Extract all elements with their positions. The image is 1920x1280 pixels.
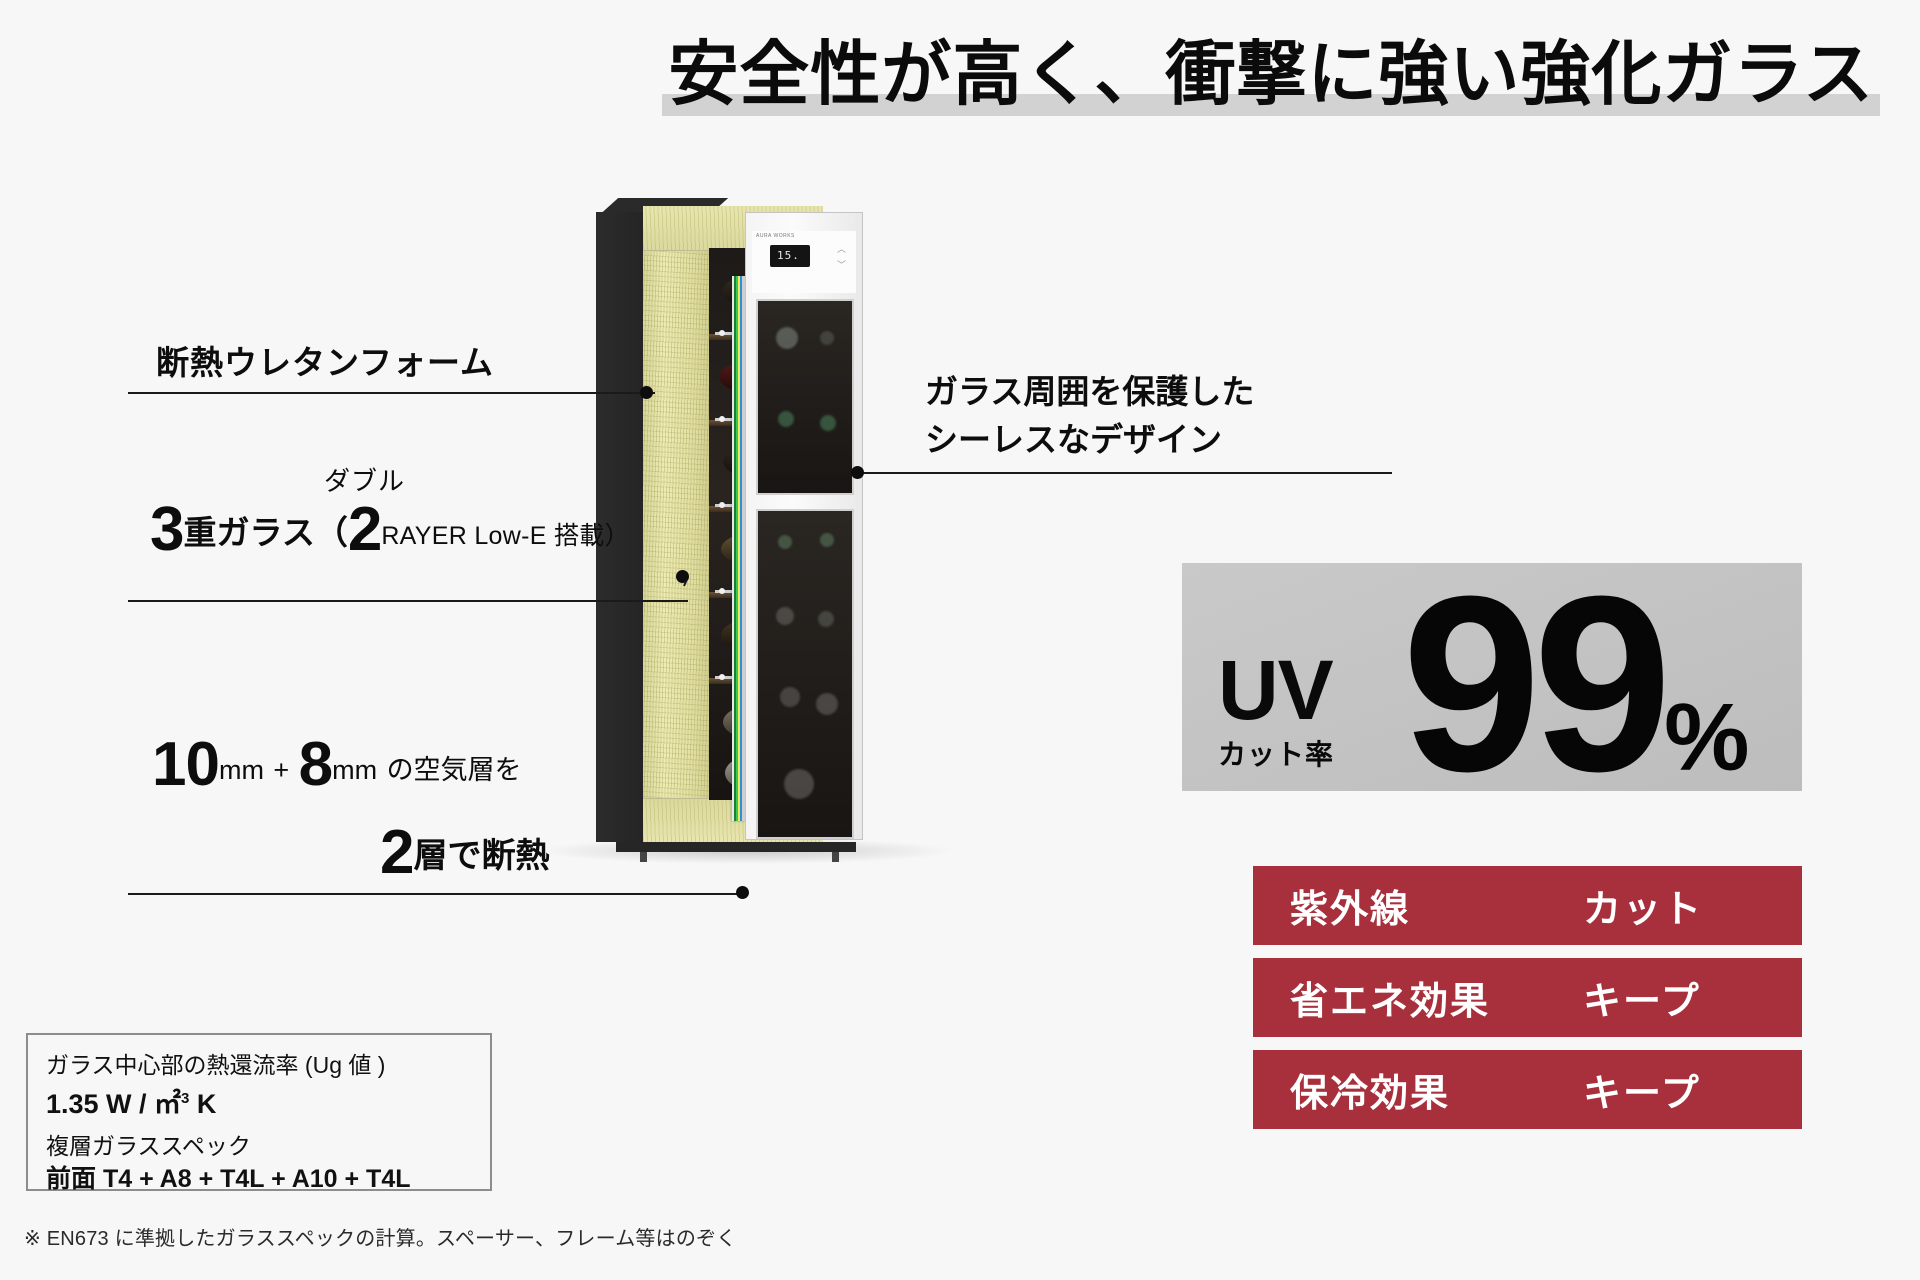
spec-ug-number: 1.35 W / ㎡ (46, 1089, 181, 1119)
spec-ug-value: 1.35 W / ㎡3 K (46, 1082, 216, 1121)
callout-dot-foam (640, 386, 653, 399)
infographic-page: 安全性が高く、衝撃に強い強化ガラス (0, 0, 1920, 1280)
temp-up-button[interactable]: ︿ (837, 245, 846, 254)
uv-percentage-group: 99% (1402, 559, 1747, 809)
uv-sub-label: カット率 (1218, 733, 1334, 773)
air-gap-plus: + (273, 755, 289, 785)
ruby-annotation: ダブル (324, 461, 405, 498)
badge-cooling-label: 保冷効果 (1290, 1062, 1450, 1117)
label-urethane-foam: 断熱ウレタンフォーム (156, 336, 494, 384)
label-seamless-design: ガラス周囲を保護した シーレスなデザイン (925, 368, 1254, 464)
label-air-gap-line2: 2層で断熱 (380, 828, 549, 878)
lower-glass-window (756, 509, 854, 839)
seamless-line-1: ガラス周囲を保護した (925, 368, 1254, 416)
badge-cooling-value: キープ (1583, 1062, 1701, 1117)
ruby-base-number: 2 (348, 495, 381, 564)
badge-energy-saving: 省エネ効果 キープ (1253, 958, 1802, 1037)
cabinet-foot (640, 852, 647, 862)
upper-glass-window (756, 299, 854, 495)
air-gap-unit-1: mm (219, 755, 264, 785)
callout-line-foam (128, 392, 655, 394)
spec-ug-label: ガラス中心部の熱還流率 (Ug 値 ) (46, 1046, 385, 1080)
label-air-gap-line1: 10mm + 8mm の空気層を (152, 740, 522, 790)
temperature-value: 15. (777, 249, 800, 262)
badge-uv-cut: 紫外線 カット (1253, 866, 1802, 945)
callout-line-glass (128, 600, 688, 602)
urethane-foam-layer (643, 206, 714, 842)
spec-layers-label: 複層ガラススペック (46, 1127, 251, 1161)
uv-word: UV (1218, 656, 1334, 725)
cabinet-base (616, 842, 856, 852)
air-gap-tail: の空気層を (387, 755, 522, 785)
page-title: 安全性が高く、衝撃に強い強化ガラス (0, 38, 1880, 116)
uv-label-group: UV カット率 (1218, 656, 1334, 773)
air-gap-unit-2: mm (332, 755, 377, 785)
page-title-text: 安全性が高く、衝撃に強い強化ガラス (662, 38, 1880, 116)
temp-down-button[interactable]: ﹀ (837, 261, 846, 270)
label-urethane-foam-text: 断熱ウレタンフォーム (156, 344, 494, 381)
badge-uv-cut-value: カット (1583, 878, 1703, 933)
product-cutaway-image: AURA WORKS 15. ︿ ﹀ (596, 198, 884, 848)
air-gap-tail2: 層で断熱 (413, 837, 549, 875)
label-triple-glass: 3重ガラス（ダブル2RAYER Low-E 搭載） (150, 505, 630, 555)
cabinet-foot (832, 852, 839, 862)
seamless-line-2: シーレスなデザイン (925, 416, 1254, 464)
control-panel: AURA WORKS 15. ︿ ﹀ (752, 231, 856, 293)
glass-door: AURA WORKS 15. ︿ ﹀ (745, 212, 863, 840)
uv-percentage-number: 99 (1402, 544, 1664, 823)
triple-glass-number: 3 (150, 495, 183, 564)
air-gap-number-3: 2 (380, 818, 413, 887)
badge-energy-saving-value: キープ (1583, 970, 1701, 1025)
triple-glass-latin: RAYER Low-E 搭載） (381, 522, 630, 550)
badge-energy-saving-label: 省エネ効果 (1290, 970, 1490, 1025)
air-gap-number-1: 10 (152, 730, 219, 799)
badge-uv-cut-label: 紫外線 (1290, 878, 1410, 933)
callout-dot-airgap (736, 886, 749, 899)
footnote: ※ EN673 に準拠したガラススペックの計算。スペーサー、フレーム等はのぞく (24, 1222, 736, 1251)
triple-glass-edge (732, 276, 745, 821)
brand-logo: AURA WORKS (756, 233, 795, 239)
triple-glass-text: 重ガラス（ (183, 514, 347, 551)
badge-cooling: 保冷効果 キープ (1253, 1050, 1802, 1129)
spec-layers-value: 前面 T4 + A8 + T4L + A10 + T4L (46, 1159, 411, 1195)
air-gap-number-2: 8 (299, 730, 332, 799)
glass-spec-box: ガラス中心部の熱還流率 (Ug 値 ) 1.35 W / ㎡3 K 複層ガラスス… (26, 1033, 492, 1191)
uv-percent-sign: % (1664, 684, 1747, 791)
temperature-display: 15. (770, 245, 810, 267)
ruby-group: ダブル2 (348, 505, 381, 555)
spec-ug-unit-tail: K (189, 1089, 216, 1119)
uv-cut-box: UV カット率 99% (1182, 563, 1802, 791)
callout-dot-seamless (851, 466, 864, 479)
callout-line-airgap (128, 893, 743, 895)
callout-line-seamless (862, 472, 1392, 474)
